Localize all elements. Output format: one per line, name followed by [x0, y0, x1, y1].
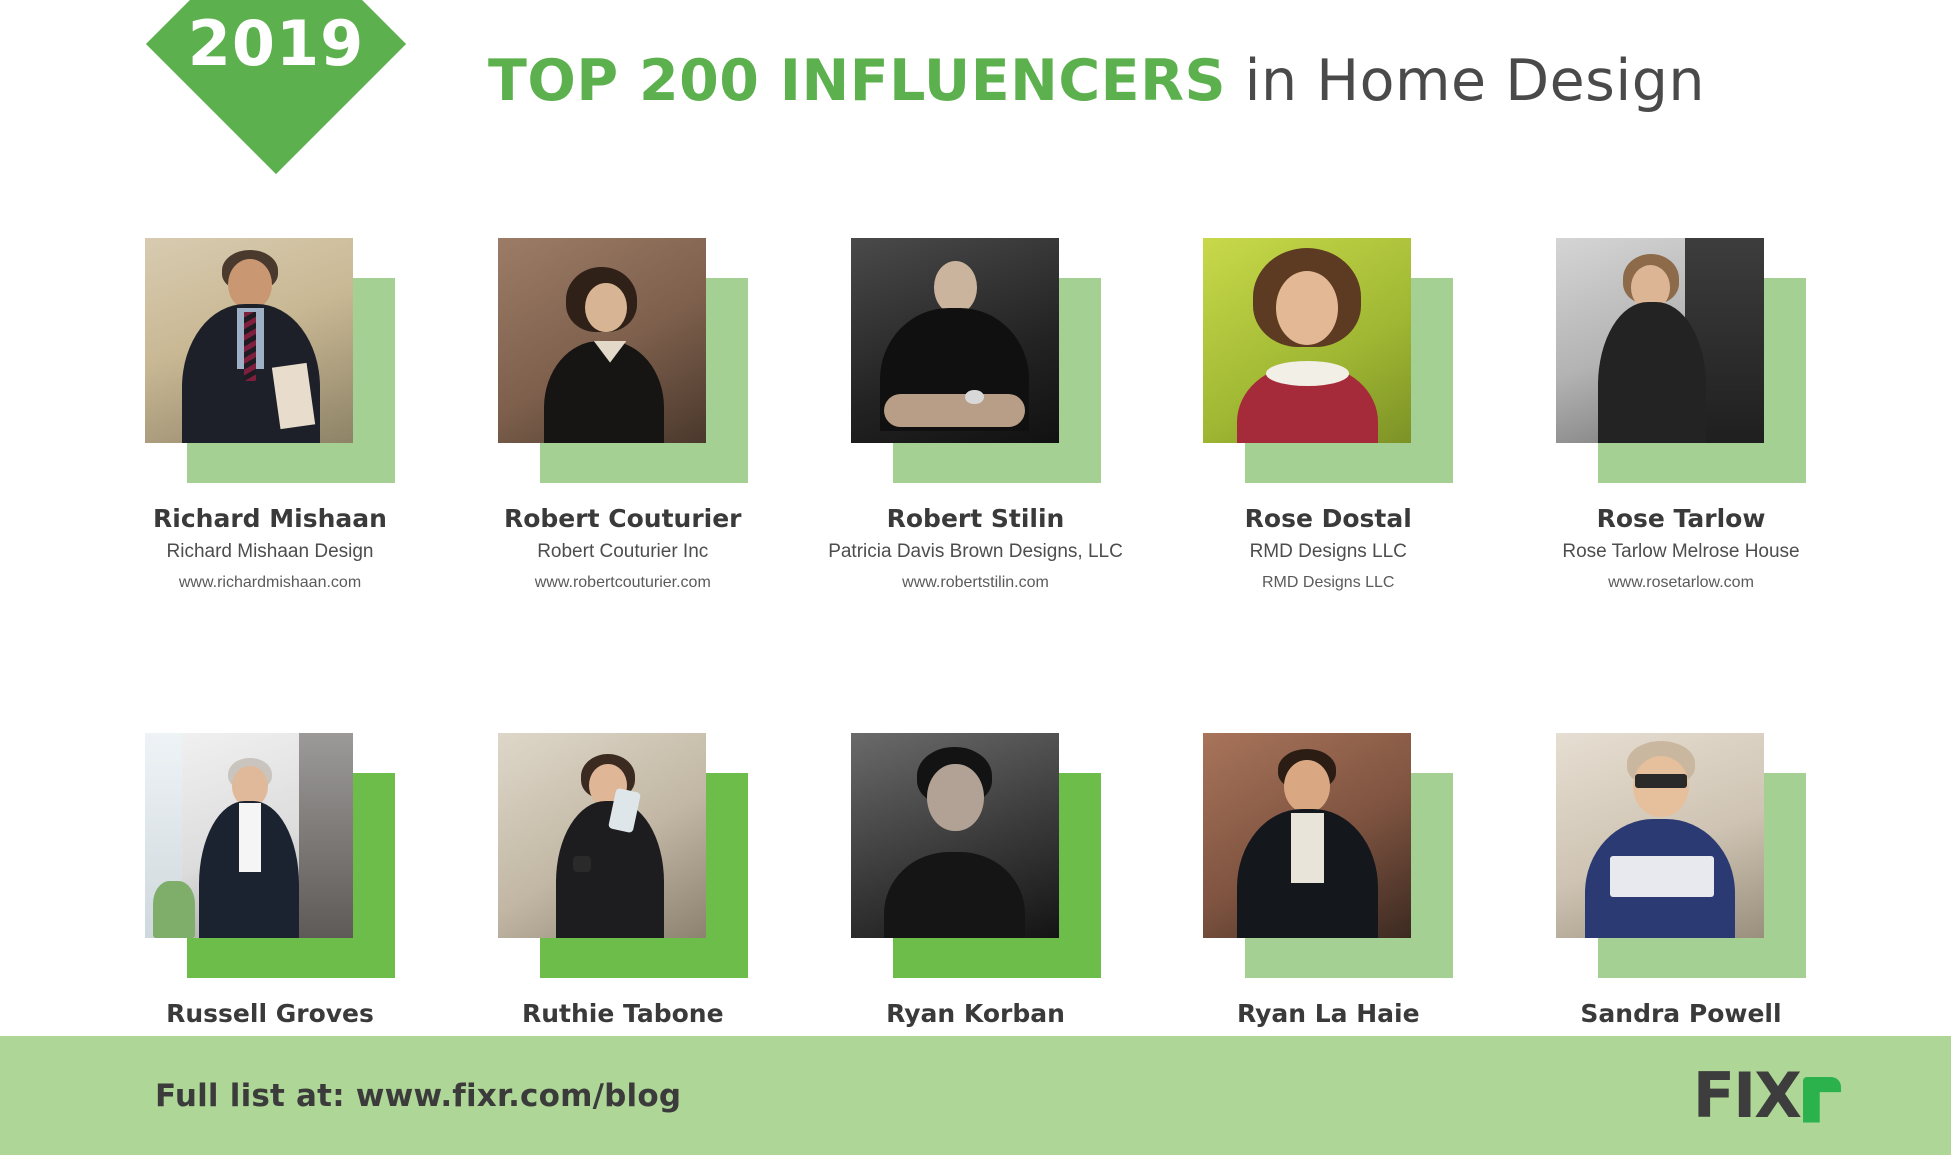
influencer-photo [1203, 733, 1411, 938]
influencer-name: Russell Groves [166, 1000, 374, 1028]
influencer-name: Rose Tarlow [1597, 505, 1766, 533]
page-title: TOP 200 INFLUENCERS in Home Design [488, 48, 1705, 114]
photo-stack [145, 238, 395, 483]
influencer-photo [498, 238, 706, 443]
influencer-name: Ryan Korban [886, 1000, 1065, 1028]
infographic-poster: 2019 TOP 200 INFLUENCERS in Home Design [0, 0, 1951, 1155]
influencer-photo [1556, 238, 1764, 443]
influencer-photo [1203, 238, 1411, 443]
logo-r-icon [1803, 1077, 1841, 1123]
influencer-grid: Richard Mishaan Richard Mishaan Design w… [0, 238, 1951, 1086]
influencer-card[interactable]: Russell Groves Groves & Co. grovesandco.… [120, 733, 420, 1086]
influencer-photo [851, 238, 1059, 443]
title-highlight: TOP 200 INFLUENCERS [488, 48, 1226, 114]
influencer-website[interactable]: www.richardmishaan.com [179, 574, 361, 592]
influencer-name: Sandra Powell [1580, 1000, 1781, 1028]
influencer-company: RMD Designs LLC [1250, 541, 1407, 563]
logo-wordmark: FIX [1693, 1065, 1800, 1127]
year-badge: 2019 [148, 2, 404, 258]
poster-footer: Full list at: www.fixr.com/blog FIX [0, 1036, 1951, 1155]
influencer-card[interactable]: Ryan Korban Ryan Korban www.ryankorban.c… [826, 733, 1126, 1086]
influencer-photo [851, 733, 1059, 938]
influencer-website[interactable]: www.rosetarlow.com [1608, 574, 1754, 592]
influencer-card[interactable]: Ruthie Tabone REFASHIONABLY LATE refashi… [473, 733, 773, 1086]
influencer-photo [498, 733, 706, 938]
influencer-card[interactable]: Sandra Powell sawdustgirl.com [1531, 733, 1831, 1086]
influencer-name: Ruthie Tabone [522, 1000, 724, 1028]
photo-stack [1556, 238, 1806, 483]
fixr-logo: FIX [1693, 1065, 1841, 1127]
poster-header: 2019 TOP 200 INFLUENCERS in Home Design [0, 0, 1951, 200]
influencer-company: Richard Mishaan Design [167, 541, 374, 563]
influencer-card[interactable]: Robert Stilin Patricia Davis Brown Desig… [826, 238, 1126, 591]
influencer-website[interactable]: www.robertcouturier.com [535, 574, 711, 592]
influencer-row: Russell Groves Groves & Co. grovesandco.… [0, 733, 1951, 1086]
influencer-company: Rose Tarlow Melrose House [1562, 541, 1799, 563]
influencer-company: Patricia Davis Brown Designs, LLC [828, 541, 1123, 563]
influencer-card[interactable]: Rose Dostal RMD Designs LLC RMD Designs … [1178, 238, 1478, 591]
influencer-website[interactable]: www.robertstilin.com [902, 574, 1049, 592]
influencer-name: Robert Stilin [887, 505, 1065, 533]
footer-link-text[interactable]: Full list at: www.fixr.com/blog [155, 1078, 681, 1114]
influencer-photo [145, 238, 353, 443]
influencer-website[interactable]: RMD Designs LLC [1262, 574, 1394, 592]
influencer-name: Rose Dostal [1245, 505, 1412, 533]
influencer-photo [145, 733, 353, 938]
title-rest: in Home Design [1226, 48, 1705, 114]
photo-stack [498, 733, 748, 978]
influencer-name: Richard Mishaan [153, 505, 387, 533]
photo-stack [851, 238, 1101, 483]
photo-stack [145, 733, 395, 978]
influencer-photo [1556, 733, 1764, 938]
photo-stack [851, 733, 1101, 978]
influencer-company: Robert Couturier Inc [537, 541, 708, 563]
influencer-name: Robert Couturier [504, 505, 742, 533]
influencer-card[interactable]: Rose Tarlow Rose Tarlow Melrose House ww… [1531, 238, 1831, 591]
influencer-card[interactable]: Robert Couturier Robert Couturier Inc ww… [473, 238, 773, 591]
photo-stack [1203, 733, 1453, 978]
photo-stack [1203, 238, 1453, 483]
photo-stack [498, 238, 748, 483]
photo-stack [1556, 733, 1806, 978]
badge-year-label: 2019 [148, 0, 404, 94]
influencer-name: Ryan La Haie [1237, 1000, 1420, 1028]
influencer-card[interactable]: Richard Mishaan Richard Mishaan Design w… [120, 238, 420, 591]
influencer-row: Richard Mishaan Richard Mishaan Design w… [0, 238, 1951, 591]
influencer-card[interactable]: Ryan La Haie Architecture + Design www.4… [1178, 733, 1478, 1086]
